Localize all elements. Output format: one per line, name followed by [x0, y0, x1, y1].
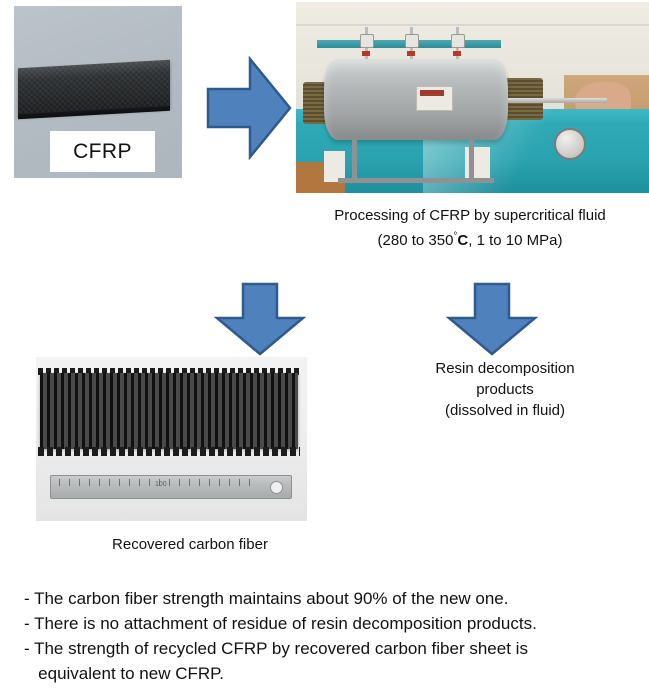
reactor-caption-line2: (280 to 350°C, 1 to 10 MPa): [290, 226, 649, 251]
reactor-caption: Processing of CFRP by supercritical flui…: [290, 205, 649, 251]
reactor-pipe: [508, 98, 607, 103]
fiber-fray-bottom: [38, 447, 300, 456]
arrow-right-shape: [206, 56, 292, 160]
reactor-stand-left: [352, 140, 357, 182]
cfrp-sample-photo: CFRP: [14, 6, 182, 178]
recovered-fiber-caption: Recovered carbon fiber: [42, 534, 338, 555]
arrow-down-icon-right: [446, 282, 538, 356]
reactor-caption-line1: Processing of CFRP by supercritical flui…: [290, 205, 649, 226]
reactor-caption-conditions-pre: (280 to 350: [378, 232, 454, 249]
fiber-woven-sheet: [40, 373, 298, 449]
reactor-base-bar: [338, 178, 493, 183]
finding-item-2: - There is no attachment of residue of r…: [24, 611, 636, 636]
resin-caption-line2: products: [392, 379, 618, 400]
reactor-photo: [296, 2, 649, 193]
arrow-down-shape-right: [446, 282, 538, 356]
arrow-down-shape-left: [214, 282, 306, 356]
resin-products-caption: Resin decomposition products (dissolved …: [392, 358, 618, 421]
reactor-wall-line: [296, 24, 649, 26]
cfrp-label-box: CFRP: [50, 131, 155, 172]
resin-caption-line1: Resin decomposition: [392, 358, 618, 379]
cfrp-label-text: CFRP: [73, 140, 132, 164]
reactor-pressure-gauge: [554, 128, 586, 160]
finding-item-3: - The strength of recycled CFRP by recov…: [24, 636, 636, 661]
ruler-mark-100: 100: [155, 481, 167, 488]
recovered-fiber-photo: 100: [36, 357, 307, 521]
finding-item-1: - The carbon fiber strength maintains ab…: [24, 586, 636, 611]
resin-caption-line3: (dissolved in fluid): [392, 400, 618, 421]
steel-ruler: 100: [50, 475, 292, 499]
ruler-hanging-hole: [270, 481, 283, 494]
reactor-nameplate-mark: [420, 90, 445, 96]
finding-item-3-cont: equivalent to new CFRP.: [24, 661, 636, 686]
reactor-caption-conditions-post: , 1 to 10 MPa): [468, 232, 562, 249]
findings-list: - The carbon fiber strength maintains ab…: [24, 586, 636, 686]
arrow-right-icon: [206, 56, 292, 160]
celsius-symbol: C: [457, 232, 468, 249]
reactor-stand-right: [469, 140, 474, 182]
arrow-down-icon-left: [214, 282, 306, 356]
